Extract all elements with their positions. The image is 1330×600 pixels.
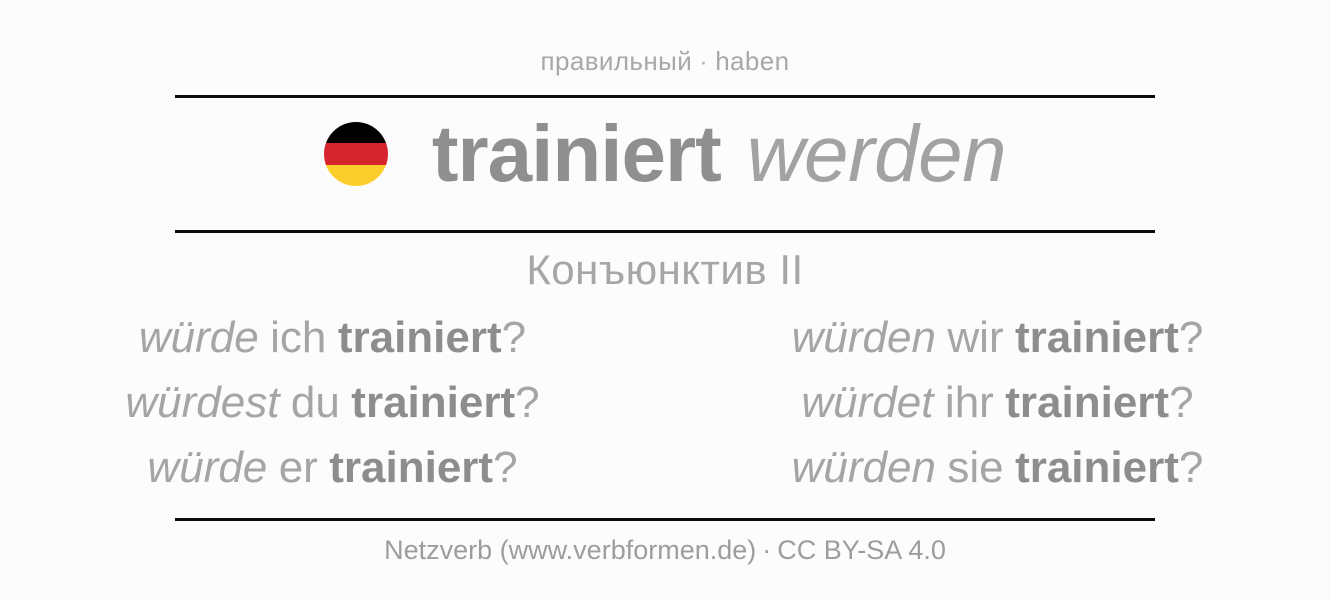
divider-middle	[175, 230, 1155, 233]
conj-verb: trainiert	[1015, 443, 1179, 492]
conj-pronoun: du	[291, 378, 340, 427]
conj-punct: ?	[493, 443, 517, 492]
conj-verb: trainiert	[338, 313, 502, 362]
headword-verb: trainiert	[432, 114, 721, 194]
conjugation-cell: würdeichtrainiert?	[0, 305, 665, 370]
conj-pronoun: ich	[270, 313, 326, 362]
flag-band-red	[324, 143, 388, 164]
conjugation-grid: würdeichtrainiert? würdenwirtrainiert? w…	[0, 305, 1330, 500]
conj-aux: würden	[792, 313, 936, 362]
conj-pronoun: er	[279, 443, 318, 492]
conj-punct: ?	[1179, 313, 1203, 362]
conj-pronoun: ihr	[945, 378, 994, 427]
conj-aux: würde	[147, 443, 267, 492]
meta-separator: ·	[692, 46, 715, 76]
conj-punct: ?	[1169, 378, 1193, 427]
conj-punct: ?	[502, 313, 526, 362]
conj-verb: trainiert	[351, 378, 515, 427]
flag-band-black	[324, 122, 388, 143]
verb-meta-line: правильный·haben	[541, 48, 790, 74]
conj-aux: würdest	[125, 378, 279, 427]
divider-bottom	[175, 518, 1155, 521]
headword-auxiliary: werden	[747, 114, 1006, 194]
headword-row: trainiert werden	[175, 98, 1155, 210]
conj-verb: trainiert	[329, 443, 493, 492]
conj-punct: ?	[1179, 443, 1203, 492]
conjugation-cell: würdenwirtrainiert?	[665, 305, 1330, 370]
conjugation-cell: würdestdutrainiert?	[0, 370, 665, 435]
conj-verb: trainiert	[1005, 378, 1169, 427]
conjugation-cell: würdensietrainiert?	[665, 435, 1330, 500]
footer-attribution: Netzverb (www.verbformen.de)·CC BY-SA 4.…	[384, 537, 946, 564]
conjugation-card: правильный·haben trainiert werden Конъюн…	[0, 0, 1330, 600]
auxiliary-verb-label: haben	[715, 46, 789, 76]
conjugation-cell: würdetihrtrainiert?	[665, 370, 1330, 435]
conj-verb: trainiert	[1015, 313, 1179, 362]
conj-pronoun: wir	[947, 313, 1003, 362]
flag-band-gold	[324, 165, 388, 186]
conj-aux: würde	[139, 313, 259, 362]
conj-aux: würdet	[801, 378, 933, 427]
verb-regularity-label: правильный	[541, 46, 693, 76]
conjugation-cell: würdeertrainiert?	[0, 435, 665, 500]
footer-source: Netzverb (www.verbformen.de)	[384, 535, 756, 565]
footer-license: CC BY-SA 4.0	[777, 535, 946, 565]
conj-pronoun: sie	[947, 443, 1003, 492]
german-flag-circle-icon	[324, 122, 388, 186]
conj-aux: würden	[792, 443, 936, 492]
footer-separator: ·	[756, 535, 777, 565]
tense-title: Конъюнктив II	[526, 249, 803, 291]
conj-punct: ?	[515, 378, 539, 427]
